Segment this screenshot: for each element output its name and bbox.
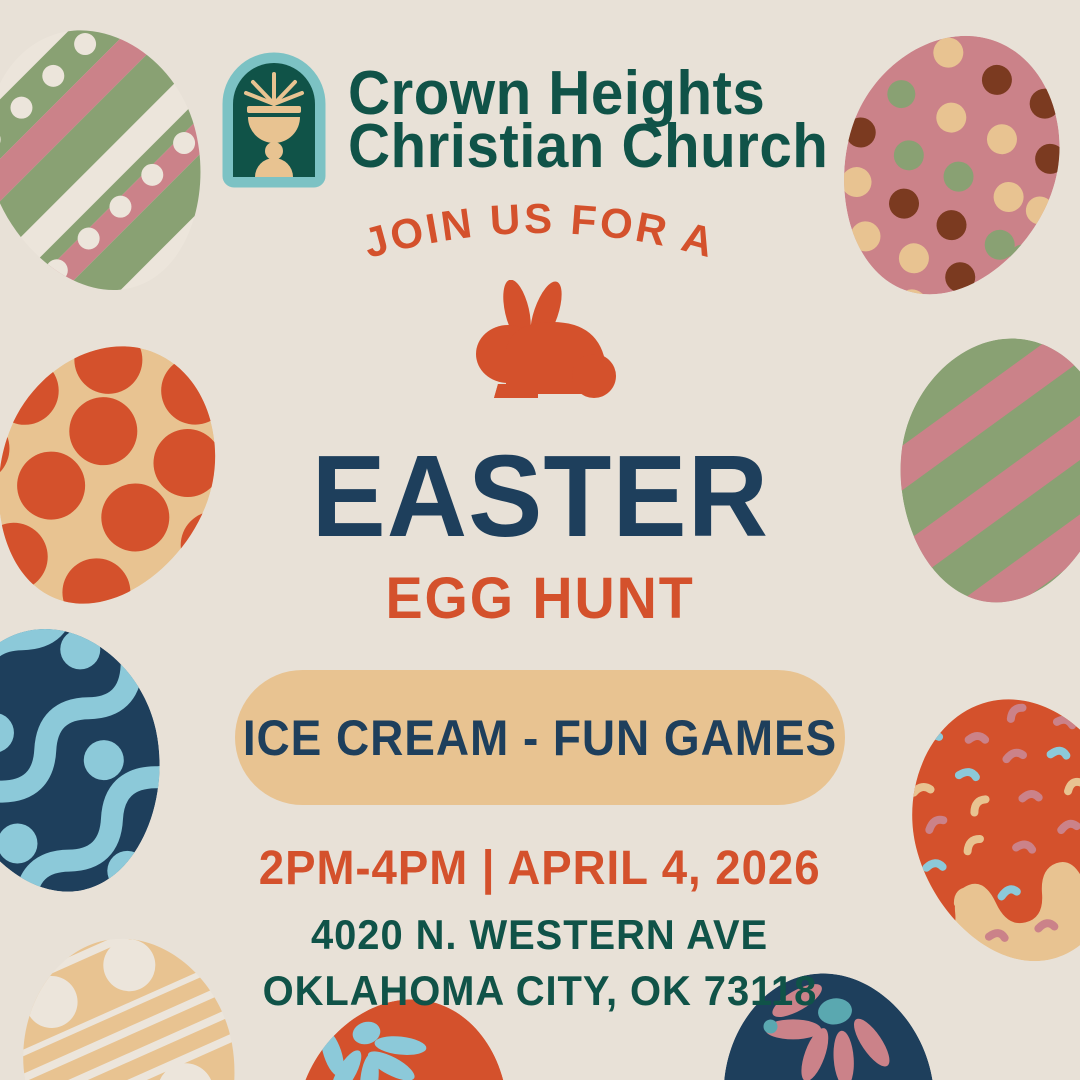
church-logo-lockup: Crown Heights Christian Church bbox=[222, 52, 859, 188]
activities-banner: ICE CREAM - FUN GAMES bbox=[235, 670, 845, 805]
flyer-content: Crown Heights Christian Church JOIN US F… bbox=[0, 0, 1080, 1080]
event-datetime: 2PM-4PM | APRIL 4, 2026 bbox=[259, 841, 821, 896]
bunny-icon bbox=[454, 280, 626, 406]
church-name-line2: Christian Church bbox=[348, 120, 828, 173]
event-address-line2: OKLAHOMA CITY, OK 73118 bbox=[263, 964, 818, 1018]
church-name: Crown Heights Christian Church bbox=[348, 67, 859, 174]
eyebrow-arched-text: JOIN US FOR A bbox=[330, 204, 750, 272]
svg-text:JOIN US FOR A: JOIN US FOR A bbox=[358, 195, 721, 267]
activities-banner-text: ICE CREAM - FUN GAMES bbox=[243, 709, 837, 767]
easter-egg-hunt-flyer: Crown Heights Christian Church JOIN US F… bbox=[0, 0, 1080, 1080]
chalice-arch-logo-icon bbox=[222, 52, 326, 188]
event-address-line1: 4020 N. WESTERN AVE bbox=[311, 908, 768, 962]
page-subtitle: EGG HUNT bbox=[385, 570, 694, 628]
page-title: EASTER bbox=[311, 438, 768, 554]
eyebrow-text: JOIN US FOR A bbox=[358, 195, 721, 267]
